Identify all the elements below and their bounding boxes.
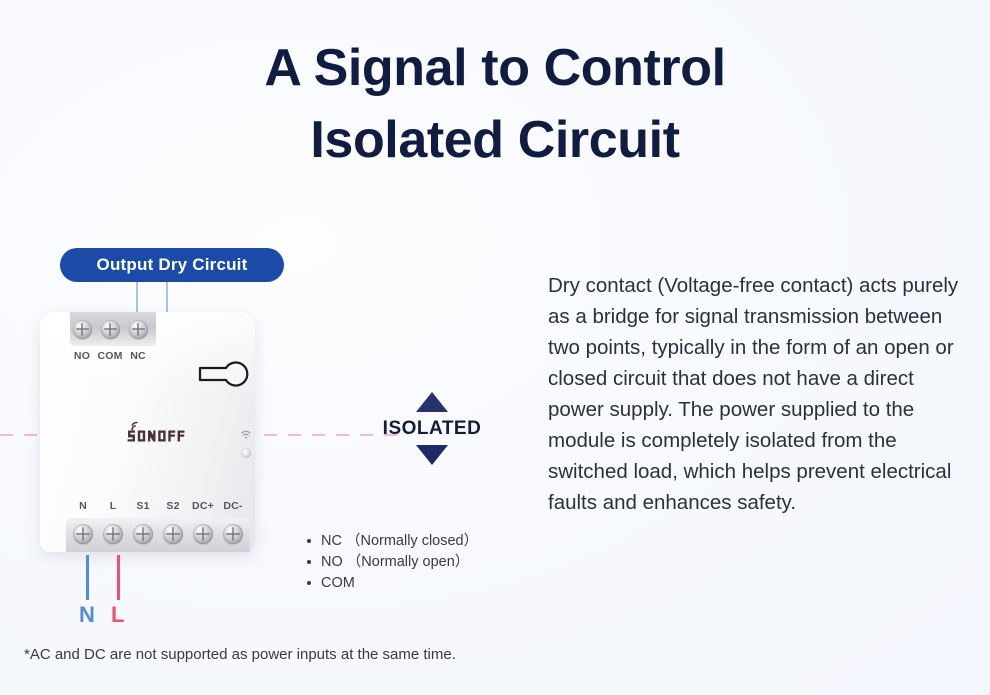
terminal-label-com: COM [95,350,125,362]
isolated-indicator: ISOLATED [372,392,492,465]
isolated-label: ISOLATED [372,418,492,440]
screw-terminal-dc-plus [193,524,213,544]
screw-terminal-s1 [133,524,153,544]
terminal-label-nc: NC [123,350,153,362]
screw-terminal-l [103,524,123,544]
screw-terminal-s2 [163,524,183,544]
footnote-text: *AC and DC are not supported as power in… [24,646,456,663]
bottom-terminal-label-dc-plus: DC+ [187,500,219,512]
keyhole-mount-slot-icon [198,355,252,393]
list-item: NC （Normally closed） [305,531,478,552]
screw-terminal-dc-minus [223,524,243,544]
led-indicator [241,448,251,458]
bottom-terminal-label-dc-minus: DC- [217,500,249,512]
list-item: NO （Normally open） [305,552,478,573]
output-dry-circuit-badge: Output Dry Circuit [60,248,284,282]
bottom-terminal-label-s1: S1 [127,500,159,512]
title-line-1: A Signal to Control [0,32,990,104]
infographic-canvas: A Signal to Control Isolated Circuit Out… [0,0,990,695]
wire-neutral [86,555,89,600]
page-title: A Signal to Control Isolated Circuit [0,32,990,176]
bottom-terminal-label-s2: S2 [157,500,189,512]
screw-terminal-com [101,320,120,339]
bottom-terminal-label-l: L [97,500,129,512]
contact-type-list: NC （Normally closed） NO （Normally open） … [305,531,478,594]
bottom-terminal-label-n: N [67,500,99,512]
screw-terminal-nc [129,320,148,339]
list-item: COM [305,573,478,594]
triangle-up-icon [416,392,448,412]
badge-leader-line-right [166,282,168,314]
wifi-icon [240,428,252,440]
terminal-label-no: NO [67,350,97,362]
description-paragraph: Dry contact (Voltage-free contact) acts … [548,270,968,518]
triangle-down-icon [416,445,448,465]
wire-live [117,555,120,600]
wire-label-l: L [111,602,124,628]
badge-leader-line-left [136,282,138,314]
wire-label-n: N [79,602,95,628]
sonoff-brand-logo [127,421,203,443]
screw-terminal-no [73,320,92,339]
screw-terminal-n [73,524,93,544]
title-line-2: Isolated Circuit [0,104,990,176]
